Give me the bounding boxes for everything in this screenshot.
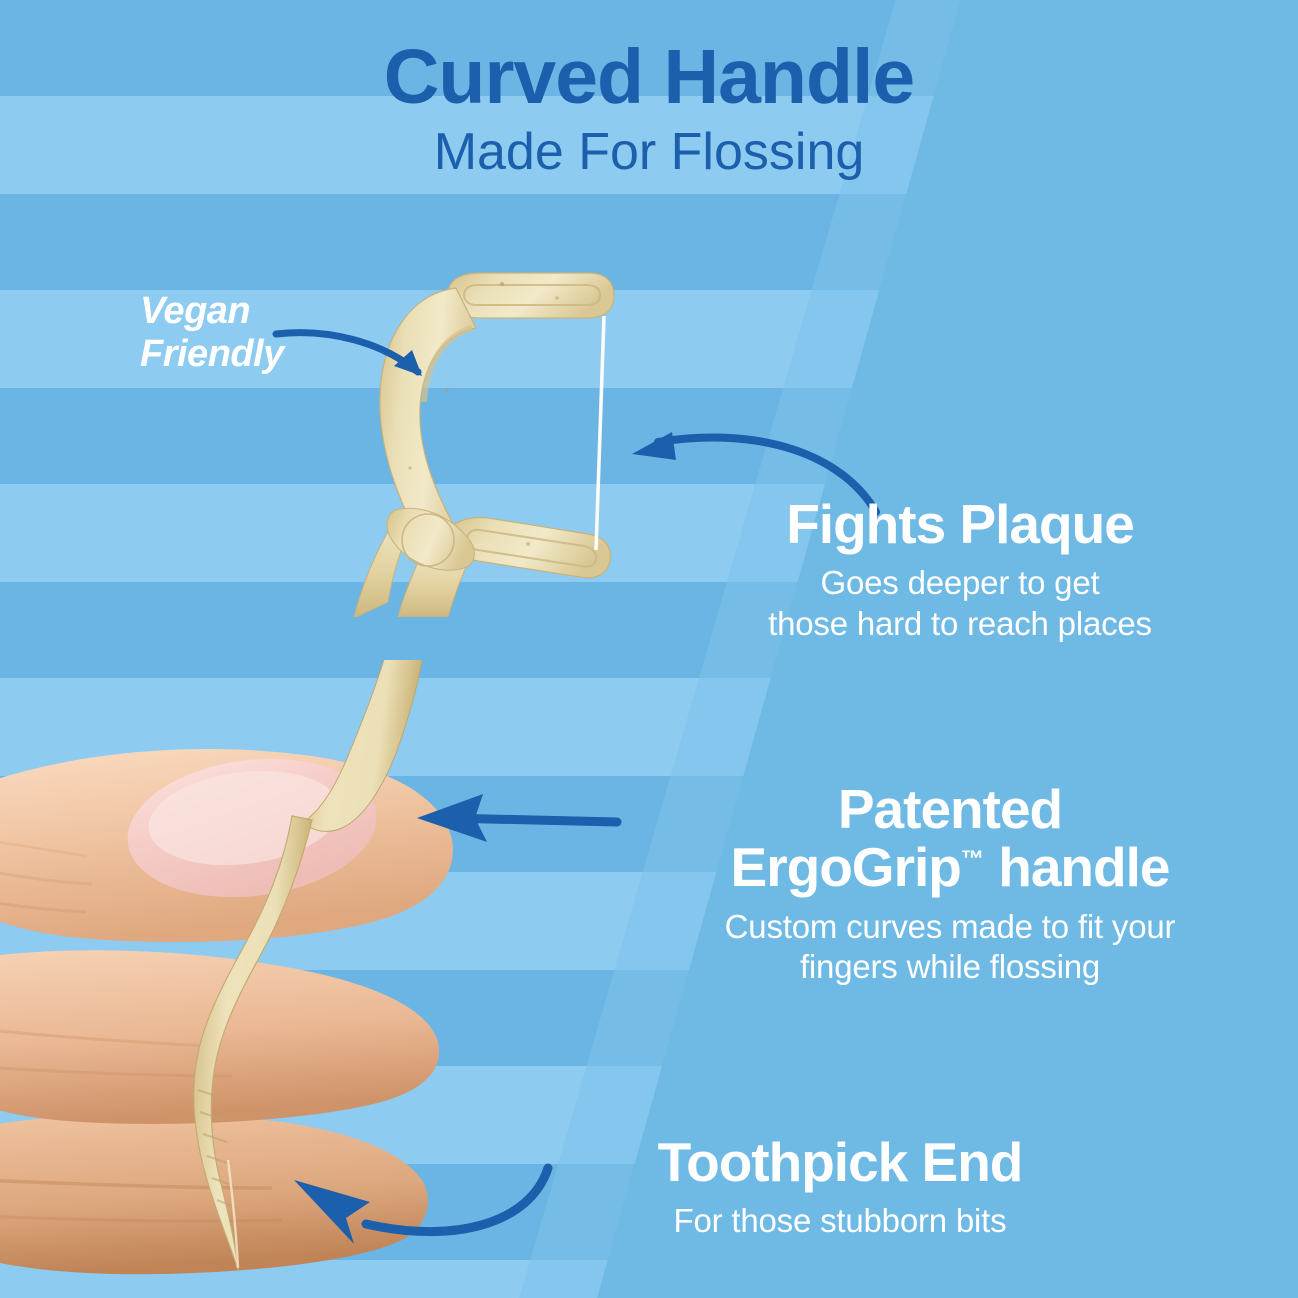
curved-arrow-left-up-icon	[258, 1152, 558, 1247]
ergogrip-title-line-2: ErgoGrip™ handle	[650, 838, 1250, 896]
page-subtitle: Made For Flossing	[0, 121, 1298, 183]
ergogrip-title: Patented ErgoGrip™ handle	[650, 780, 1250, 897]
infographic-stage: Curved Handle Made For Flossing Vegan Fr…	[0, 0, 1298, 1298]
ergogrip-subtitle: Custom curves made to fit your fingers w…	[650, 907, 1250, 988]
fights-plaque-title: Fights Plaque	[690, 495, 1230, 553]
toothpick-end-sub-line-1: For those stubborn bits	[560, 1201, 1120, 1241]
page-title: Curved Handle	[0, 38, 1298, 117]
callout-ergogrip: Patented ErgoGrip™ handle Custom curves …	[650, 780, 1250, 987]
fights-plaque-sub-line-2: those hard to reach places	[690, 604, 1230, 644]
callout-toothpick-end: Toothpick End For those stubborn bits	[560, 1133, 1120, 1242]
toothpick-end-title: Toothpick End	[560, 1133, 1120, 1191]
product-photo	[0, 0, 1298, 1298]
callout-fights-plaque: Fights Plaque Goes deeper to get those h…	[690, 495, 1230, 644]
ergogrip-sub-line-2: fingers while flossing	[650, 947, 1250, 987]
fights-plaque-subtitle: Goes deeper to get those hard to reach p…	[690, 563, 1230, 644]
ergogrip-sub-line-1: Custom curves made to fit your	[650, 907, 1250, 947]
trademark-icon: ™	[961, 846, 984, 872]
ergogrip-title-line-1: Patented	[650, 780, 1250, 838]
vegan-line-1: Vegan	[140, 290, 284, 333]
ergogrip-word: ErgoGrip	[731, 836, 961, 898]
header-block: Curved Handle Made For Flossing	[0, 38, 1298, 184]
fights-plaque-sub-line-1: Goes deeper to get	[690, 563, 1230, 603]
curved-arrow-right-down-icon	[272, 320, 442, 390]
toothpick-end-subtitle: For those stubborn bits	[560, 1201, 1120, 1241]
callout-vegan-friendly: Vegan Friendly	[140, 290, 284, 376]
vegan-line-2: Friendly	[140, 333, 284, 376]
ergogrip-handle-word: handle	[984, 836, 1170, 898]
straight-arrow-left-icon	[405, 788, 620, 844]
